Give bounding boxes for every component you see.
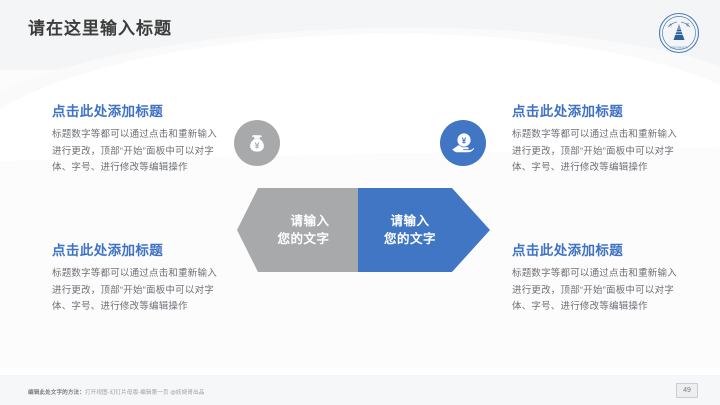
hand-holding-yen-coin-icon-badge[interactable]: ¥ (440, 120, 486, 166)
chevron-label: 请输入 您的文字 (259, 212, 335, 248)
footer-note: 编辑此处文字的方法：打开视图-幻灯片母版-编辑第一页 @妖娆哥出品 (28, 388, 205, 396)
block-title: 点击此处添加标题 (52, 104, 224, 120)
chevron-shape: 请输入 您的文字 (358, 188, 490, 272)
svg-text:¥: ¥ (255, 140, 260, 150)
university-seal-icon: UNIVERSITY 大 学 (658, 12, 700, 54)
hand-holding-yen-coin-icon: ¥ (450, 130, 476, 156)
chevron-left-gray[interactable]: 请输入 您的文字 (237, 188, 358, 272)
money-bag-yen-icon-badge[interactable]: ¥ (234, 120, 280, 166)
block-title: 点击此处添加标题 (52, 243, 224, 259)
chevron-shape: 请输入 您的文字 (237, 188, 358, 272)
svg-text:¥: ¥ (462, 135, 467, 145)
content-block-top-left[interactable]: 点击此处添加标题 标题数字等都可以通过点击和重新输入进行更改，顶部“开始”面板中… (52, 104, 224, 176)
content-block-bottom-left[interactable]: 点击此处添加标题 标题数字等都可以通过点击和重新输入进行更改，顶部“开始”面板中… (52, 243, 224, 315)
chevron-label-line1: 请输入 (277, 212, 329, 230)
block-body: 标题数字等都可以通过点击和重新输入进行更改，顶部“开始”面板中可以对字体、字号、… (512, 127, 684, 176)
svg-text:大: 大 (669, 22, 673, 27)
chevron-label-line1: 请输入 (384, 212, 436, 230)
block-body: 标题数字等都可以通过点击和重新输入进行更改，顶部“开始”面板中可以对字体、字号、… (512, 266, 684, 315)
block-title: 点击此处添加标题 (512, 104, 684, 120)
content-block-top-right[interactable]: 点击此处添加标题 标题数字等都可以通过点击和重新输入进行更改，顶部“开始”面板中… (512, 104, 684, 176)
chevron-label: 请输入 您的文字 (384, 212, 464, 248)
footer-note-rest: 打开视图-幻灯片母版-编辑第一页 @妖娆哥出品 (85, 390, 205, 396)
svg-text:UNIVERSITY: UNIVERSITY (670, 45, 689, 49)
page-title: 请在这里输入标题 (28, 14, 172, 39)
block-body: 标题数字等都可以通过点击和重新输入进行更改，顶部“开始”面板中可以对字体、字号、… (52, 266, 224, 315)
slide-canvas: 请在这里输入标题 UNIVERSITY 大 学 点击此处添加标题 标题数字等都可… (0, 0, 720, 405)
content-block-bottom-right[interactable]: 点击此处添加标题 标题数字等都可以通过点击和重新输入进行更改，顶部“开始”面板中… (512, 243, 684, 315)
block-body: 标题数字等都可以通过点击和重新输入进行更改，顶部“开始”面板中可以对字体、字号、… (52, 127, 224, 176)
footer-note-bold: 编辑此处文字的方法： (28, 390, 85, 396)
slide-header: 请在这里输入标题 (0, 0, 720, 52)
chevron-right-blue[interactable]: 请输入 您的文字 (358, 188, 490, 272)
page-number-badge: 49 (676, 383, 698, 398)
chevron-label-line2: 您的文字 (277, 230, 329, 248)
block-title: 点击此处添加标题 (512, 243, 684, 259)
chevron-label-line2: 您的文字 (384, 230, 436, 248)
money-bag-yen-icon: ¥ (245, 131, 269, 155)
